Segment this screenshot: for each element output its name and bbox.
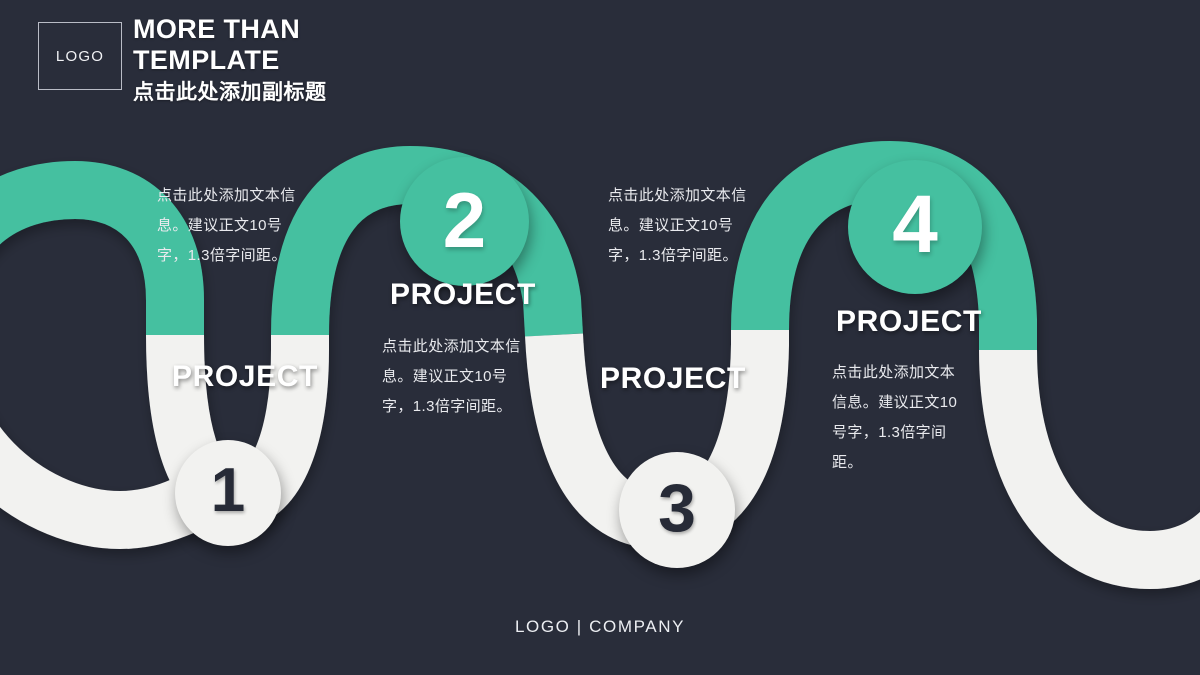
step-label-3: PROJECT [600, 362, 746, 396]
slide-canvas: LOGO MORE THAN TEMPLATE 点击此处添加副标题 1 PROJ… [0, 0, 1200, 675]
step-number-3: 3 [658, 474, 696, 542]
step-body-3: 点击此处添加文本信息。建议正文10号字，1.3倍字间距。 [608, 181, 758, 271]
title-line-1: MORE THAN [133, 14, 327, 45]
title-line-2: TEMPLATE [133, 45, 327, 76]
step-body-2: 点击此处添加文本信息。建议正文10号字，1.3倍字间距。 [382, 332, 532, 422]
step-badge-3[interactable]: 3 [619, 452, 735, 568]
logo-placeholder-box[interactable]: LOGO [38, 22, 122, 90]
subtitle: 点击此处添加副标题 [133, 78, 327, 108]
step-badge-1[interactable]: 1 [175, 440, 281, 546]
step-label-4: PROJECT [836, 305, 982, 339]
slide-header: LOGO MORE THAN TEMPLATE 点击此处添加副标题 [0, 0, 1200, 125]
step-number-1: 1 [211, 460, 245, 522]
step-number-4: 4 [892, 184, 938, 266]
step-label-1: PROJECT [172, 360, 318, 394]
step-body-4: 点击此处添加文本信息。建议正文10号字，1.3倍字间距。 [832, 358, 966, 478]
step-label-2: PROJECT [390, 278, 536, 312]
step-badge-2[interactable]: 2 [400, 157, 529, 286]
footer-company-line: LOGO | COMPANY [0, 617, 1200, 637]
ribbon-segment-green-0 [0, 190, 175, 335]
logo-label: LOGO [56, 48, 104, 65]
step-body-1: 点击此处添加文本信息。建议正文10号字，1.3倍字间距。 [157, 181, 303, 271]
step-number-2: 2 [443, 181, 486, 259]
step-badge-4[interactable]: 4 [848, 160, 982, 294]
ribbon-segment-white-3 [1008, 350, 1200, 560]
title-group: MORE THAN TEMPLATE 点击此处添加副标题 [133, 14, 327, 108]
